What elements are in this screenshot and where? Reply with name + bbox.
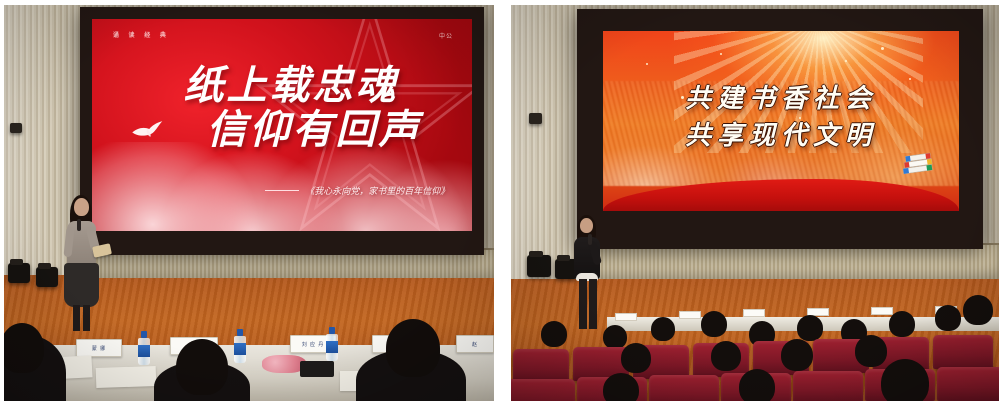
foreground-person	[4, 323, 44, 373]
slide-header-label: 诵 读 经 典	[113, 30, 170, 39]
nameplate: 赵	[456, 335, 494, 353]
photo-right[interactable]: 共建书香社会 共享现代文明	[511, 5, 999, 401]
auditorium-seat	[513, 349, 569, 383]
audience-head	[651, 317, 675, 341]
audience-head	[603, 373, 639, 401]
wall-speaker-icon	[10, 123, 22, 133]
nameplate-text: 赵	[472, 341, 478, 348]
audience-head	[711, 341, 741, 371]
presenter-left	[60, 195, 108, 335]
stage-light-icon	[36, 267, 58, 287]
photo-gallery: 诵 读 经 典 中公 纸上载忠魂 信仰有回声 《我心永向党，家书里的百年信仰》	[0, 0, 1000, 402]
wall-speaker-icon	[529, 113, 542, 124]
nameplate-text: 蒙 娜	[92, 345, 106, 352]
nameplate-text: 刘 应 丹	[302, 341, 325, 348]
slide-title-line2: 信仰有回声	[92, 110, 472, 151]
audience-head	[739, 369, 775, 401]
stacked-books-icon	[898, 147, 938, 177]
notepad	[96, 366, 157, 388]
subtitle-rule	[265, 190, 299, 191]
presenter-skirt	[64, 263, 99, 307]
mini-nameplate	[615, 313, 637, 321]
foreground-person	[176, 339, 228, 395]
auditorium-seat	[649, 375, 719, 401]
presenter-right	[569, 215, 609, 335]
microphone-icon	[588, 234, 592, 245]
audience-head	[935, 305, 961, 331]
audience-head	[781, 339, 813, 371]
audience-head	[701, 311, 727, 337]
stage-light-icon	[527, 255, 551, 277]
water-bottle	[138, 331, 150, 365]
auditorium-seat	[933, 335, 993, 369]
subtitle-text: 《我心永向党，家书里的百年信仰》	[305, 184, 449, 197]
mini-nameplate	[679, 311, 701, 319]
slide-title-line1: 纸上载忠魂	[92, 66, 472, 107]
audience-head	[603, 325, 627, 349]
slide-header-text: 诵 读 经 典	[113, 30, 170, 39]
slide-corner-logo: 中公	[439, 31, 453, 40]
presenter-head	[74, 198, 89, 216]
slide2-title-line1: 共建书香社会	[603, 80, 959, 118]
nameplate: 蒙 娜	[76, 339, 122, 357]
audience-head	[881, 359, 929, 401]
water-bottle	[326, 327, 338, 361]
audience-head	[963, 295, 993, 325]
slide2-title-block: 共建书香社会 共享现代文明	[603, 80, 959, 155]
mini-nameplate	[871, 307, 893, 315]
stage-light-icon	[8, 263, 30, 283]
photo-left[interactable]: 诵 读 经 典 中公 纸上载忠魂 信仰有回声 《我心永向党，家书里的百年信仰》	[4, 5, 494, 401]
audience-head	[797, 315, 823, 341]
presenter-leg-right	[83, 305, 90, 331]
water-bottle	[234, 329, 246, 363]
audience-head	[541, 321, 567, 347]
audience-head	[621, 343, 651, 373]
audience-head	[889, 311, 915, 337]
presenter-leg-right	[589, 279, 597, 329]
slide-subtitle: 《我心永向党，家书里的百年信仰》	[265, 184, 449, 197]
auditorium-seat	[511, 379, 575, 401]
foreground-person	[386, 319, 440, 377]
presenter-head	[580, 218, 593, 233]
slide-title-block: 纸上载忠魂 信仰有回声	[92, 66, 472, 152]
audience-head	[855, 335, 887, 367]
auditorium-seat	[937, 367, 999, 401]
led-screen-right[interactable]: 共建书香社会 共享现代文明	[603, 31, 959, 211]
mini-nameplate	[743, 309, 765, 317]
laptop	[300, 361, 334, 377]
auditorium-seat	[793, 371, 863, 401]
presenter-leg-left	[73, 305, 80, 331]
presenter-leg-left	[579, 279, 587, 329]
led-screen-left[interactable]: 诵 读 经 典 中公 纸上载忠魂 信仰有回声 《我心永向党，家书里的百年信仰》	[92, 19, 472, 231]
microphone-icon	[77, 219, 81, 231]
